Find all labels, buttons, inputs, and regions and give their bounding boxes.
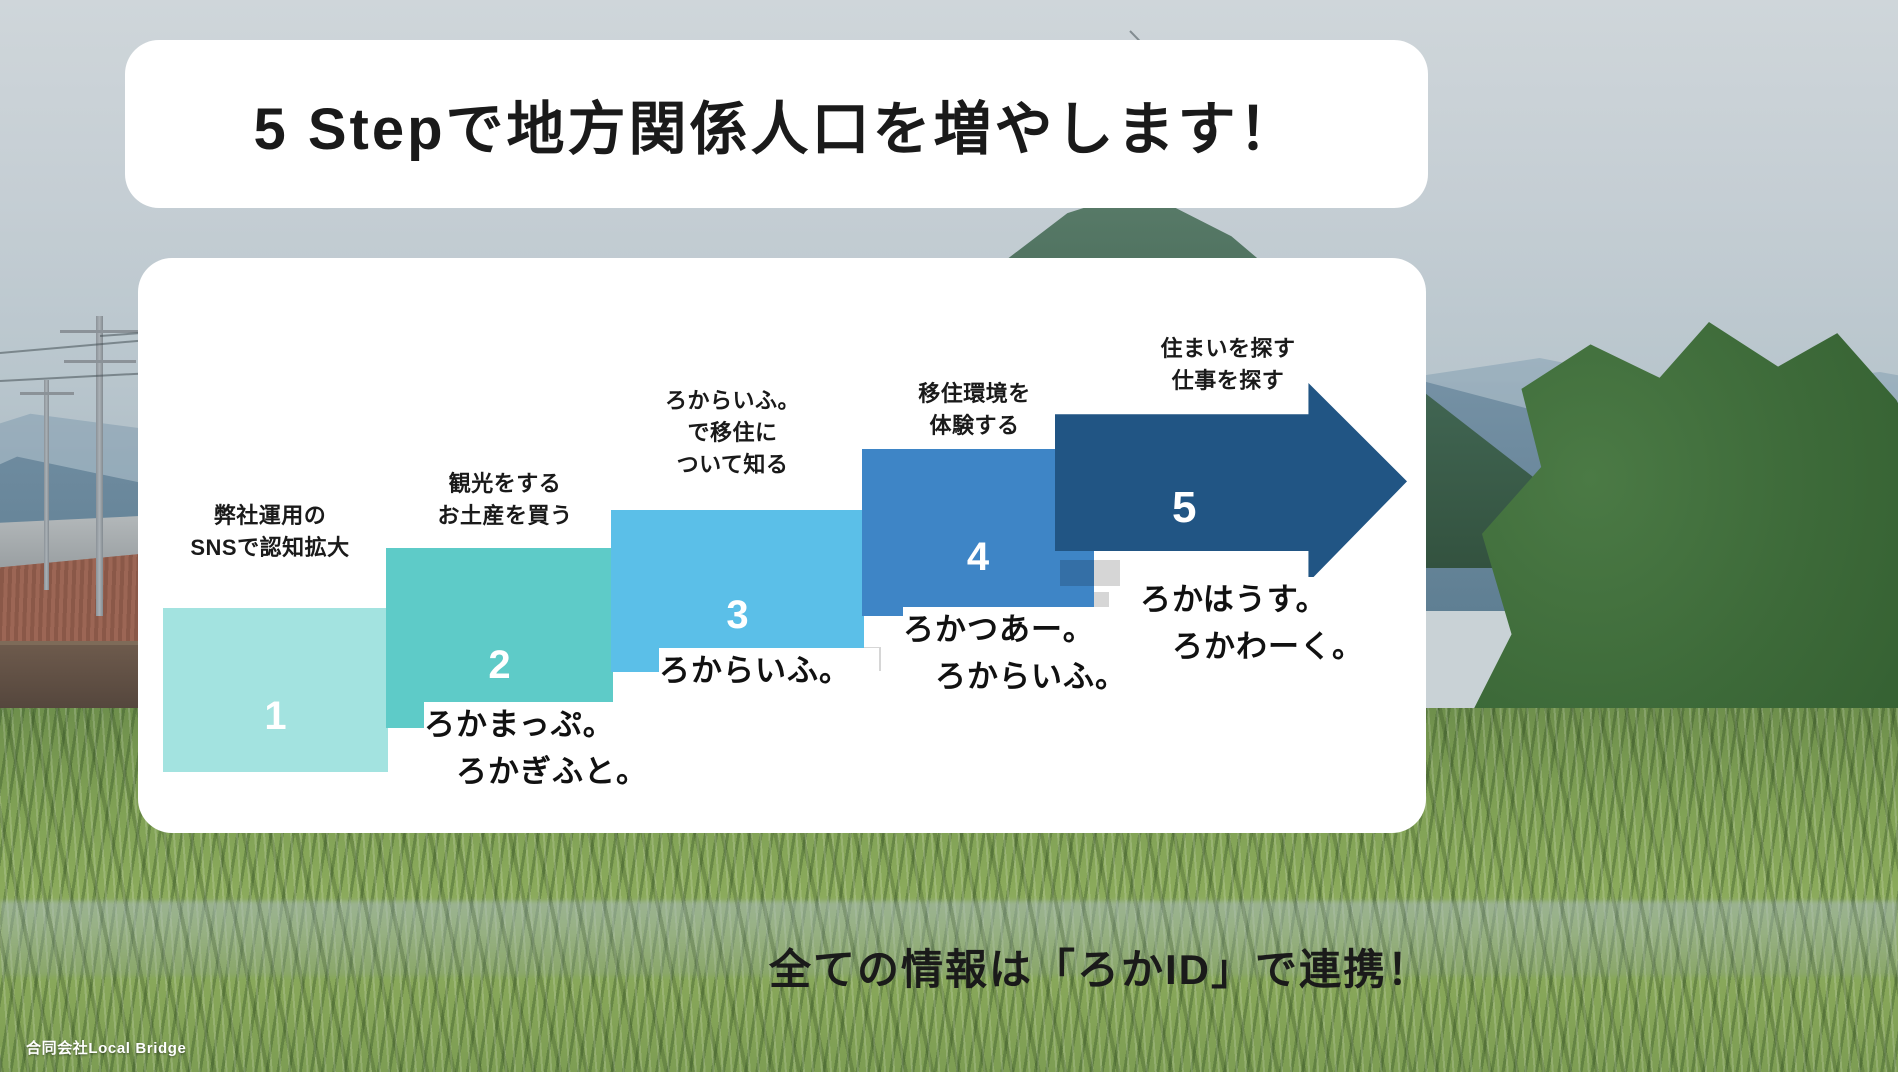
- step-1-title: 弊社運用の SNSで認知拡大: [150, 500, 390, 564]
- utility-pole-small-arm: [20, 392, 74, 395]
- step-4-title: 移住環境を 体験する: [862, 378, 1087, 442]
- utility-pole-small: [44, 380, 49, 590]
- step-1-bar[interactable]: 1: [163, 608, 388, 772]
- tagline-text: 全ての情報は「ろかID」で連携！: [760, 936, 1440, 997]
- step-2-number: 2: [488, 645, 510, 685]
- step-2-title: 観光をする お土産を買う: [390, 468, 620, 532]
- page-title: 5 Stepで地方関係人口を増やします！: [253, 82, 1299, 166]
- step-4-services: ろかつあー。 ろからいふ。: [903, 607, 1143, 700]
- step-4-number: 4: [967, 537, 989, 577]
- step-3-number: 3: [726, 595, 748, 635]
- step-2-bar[interactable]: 2: [386, 548, 613, 728]
- step-1-number: 1: [264, 696, 286, 736]
- title-card: 5 Stepで地方関係人口を増やします！: [125, 40, 1428, 208]
- step-2-services: ろかまっぷ。 ろかぎふと。: [424, 702, 664, 795]
- company-footer: 合同会社Local Bridge: [26, 1037, 186, 1058]
- step-5-services: ろかはうす。 ろかわーく。: [1140, 577, 1400, 670]
- step-5-number: 5: [1172, 483, 1196, 533]
- step-3-title: ろからいふ。 で移住に ついて知る: [620, 385, 845, 481]
- utility-pole-arm: [64, 360, 136, 363]
- step-5-bar-shadow: [1060, 560, 1120, 586]
- step-3-services: ろからいふ。: [659, 648, 879, 695]
